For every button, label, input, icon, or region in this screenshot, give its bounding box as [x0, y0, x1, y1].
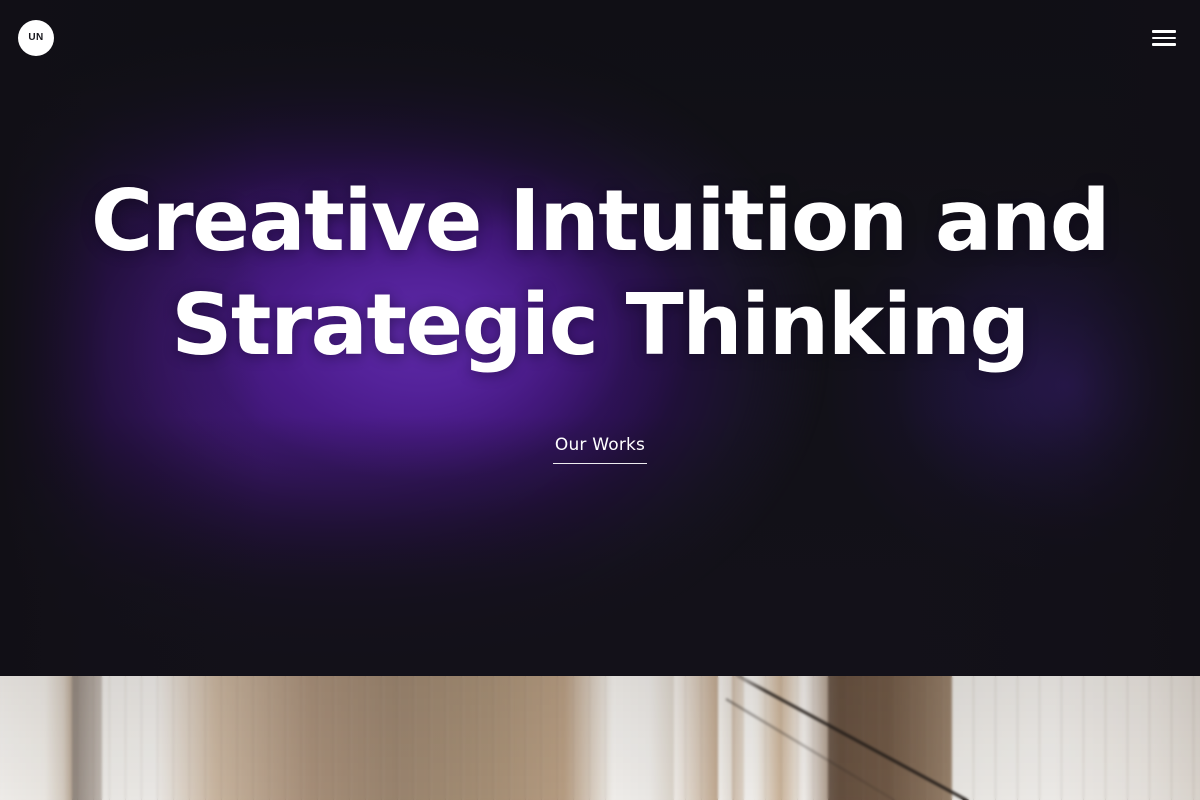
logo-text: UN	[28, 33, 43, 43]
hamburger-menu-icon[interactable]	[1148, 24, 1180, 52]
our-works-label: Our Works	[553, 435, 647, 464]
logo[interactable]: UN	[18, 20, 54, 56]
photo-image	[0, 676, 1200, 800]
photo-top-shade	[0, 676, 1200, 800]
page-title-line-1: Creative Intuition and	[91, 170, 1109, 274]
page-title: Creative Intuition and Strategic Thinkin…	[91, 170, 1109, 377]
hamburger-bar-2	[1152, 37, 1176, 40]
landing-page: Creative Intuition and Strategic Thinkin…	[0, 0, 1200, 800]
hamburger-bar-3	[1152, 43, 1176, 46]
hamburger-bar-1	[1152, 30, 1176, 33]
photo-section	[0, 676, 1200, 800]
page-title-line-2: Strategic Thinking	[91, 274, 1109, 378]
our-works-link[interactable]: Our Works	[553, 435, 647, 464]
hero-content: Creative Intuition and Strategic Thinkin…	[0, 0, 1200, 676]
site-header: UN	[0, 0, 1200, 76]
